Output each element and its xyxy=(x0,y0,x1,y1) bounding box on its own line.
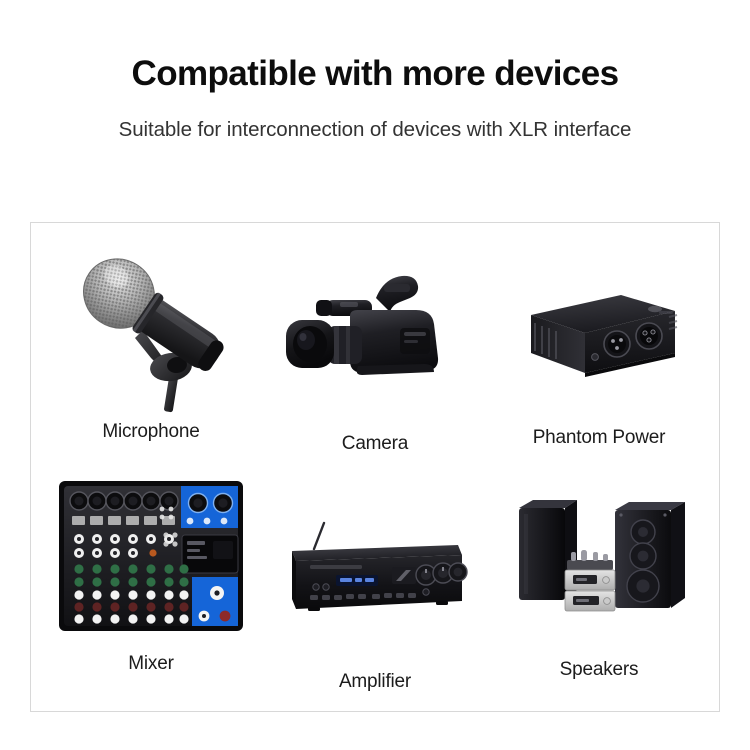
audio-mixer-illustration xyxy=(39,465,263,639)
camcorder-illustration xyxy=(263,229,487,419)
page-header: Compatible with more devices Suitable fo… xyxy=(0,0,750,142)
device-label-microphone: Microphone xyxy=(102,421,199,443)
phantom-power-illustration xyxy=(487,229,711,417)
device-item-camera[interactable]: Camera xyxy=(263,229,487,465)
page-subtitle: Suitable for interconnection of devices … xyxy=(0,94,750,142)
devices-card: Microphone xyxy=(30,222,720,712)
device-item-speakers[interactable]: Speakers xyxy=(487,465,711,701)
device-label-amplifier: Amplifier xyxy=(339,671,411,693)
device-item-phantom-power[interactable]: Phantom Power xyxy=(487,229,711,465)
device-item-amplifier[interactable]: Amplifier xyxy=(263,465,487,701)
amplifier-illustration xyxy=(263,465,487,651)
device-label-mixer: Mixer xyxy=(128,653,173,675)
device-label-phantom-power: Phantom Power xyxy=(533,427,666,449)
device-item-mixer[interactable]: Mixer xyxy=(39,465,263,701)
device-label-camera: Camera xyxy=(342,433,408,455)
speakers-illustration xyxy=(487,465,711,639)
microphone-illustration xyxy=(39,229,263,415)
compatibility-page: Compatible with more devices Suitable fo… xyxy=(0,0,750,750)
device-label-speakers: Speakers xyxy=(560,659,639,681)
devices-grid: Microphone xyxy=(31,223,719,711)
page-title: Compatible with more devices xyxy=(0,54,750,94)
device-item-microphone[interactable]: Microphone xyxy=(39,229,263,465)
